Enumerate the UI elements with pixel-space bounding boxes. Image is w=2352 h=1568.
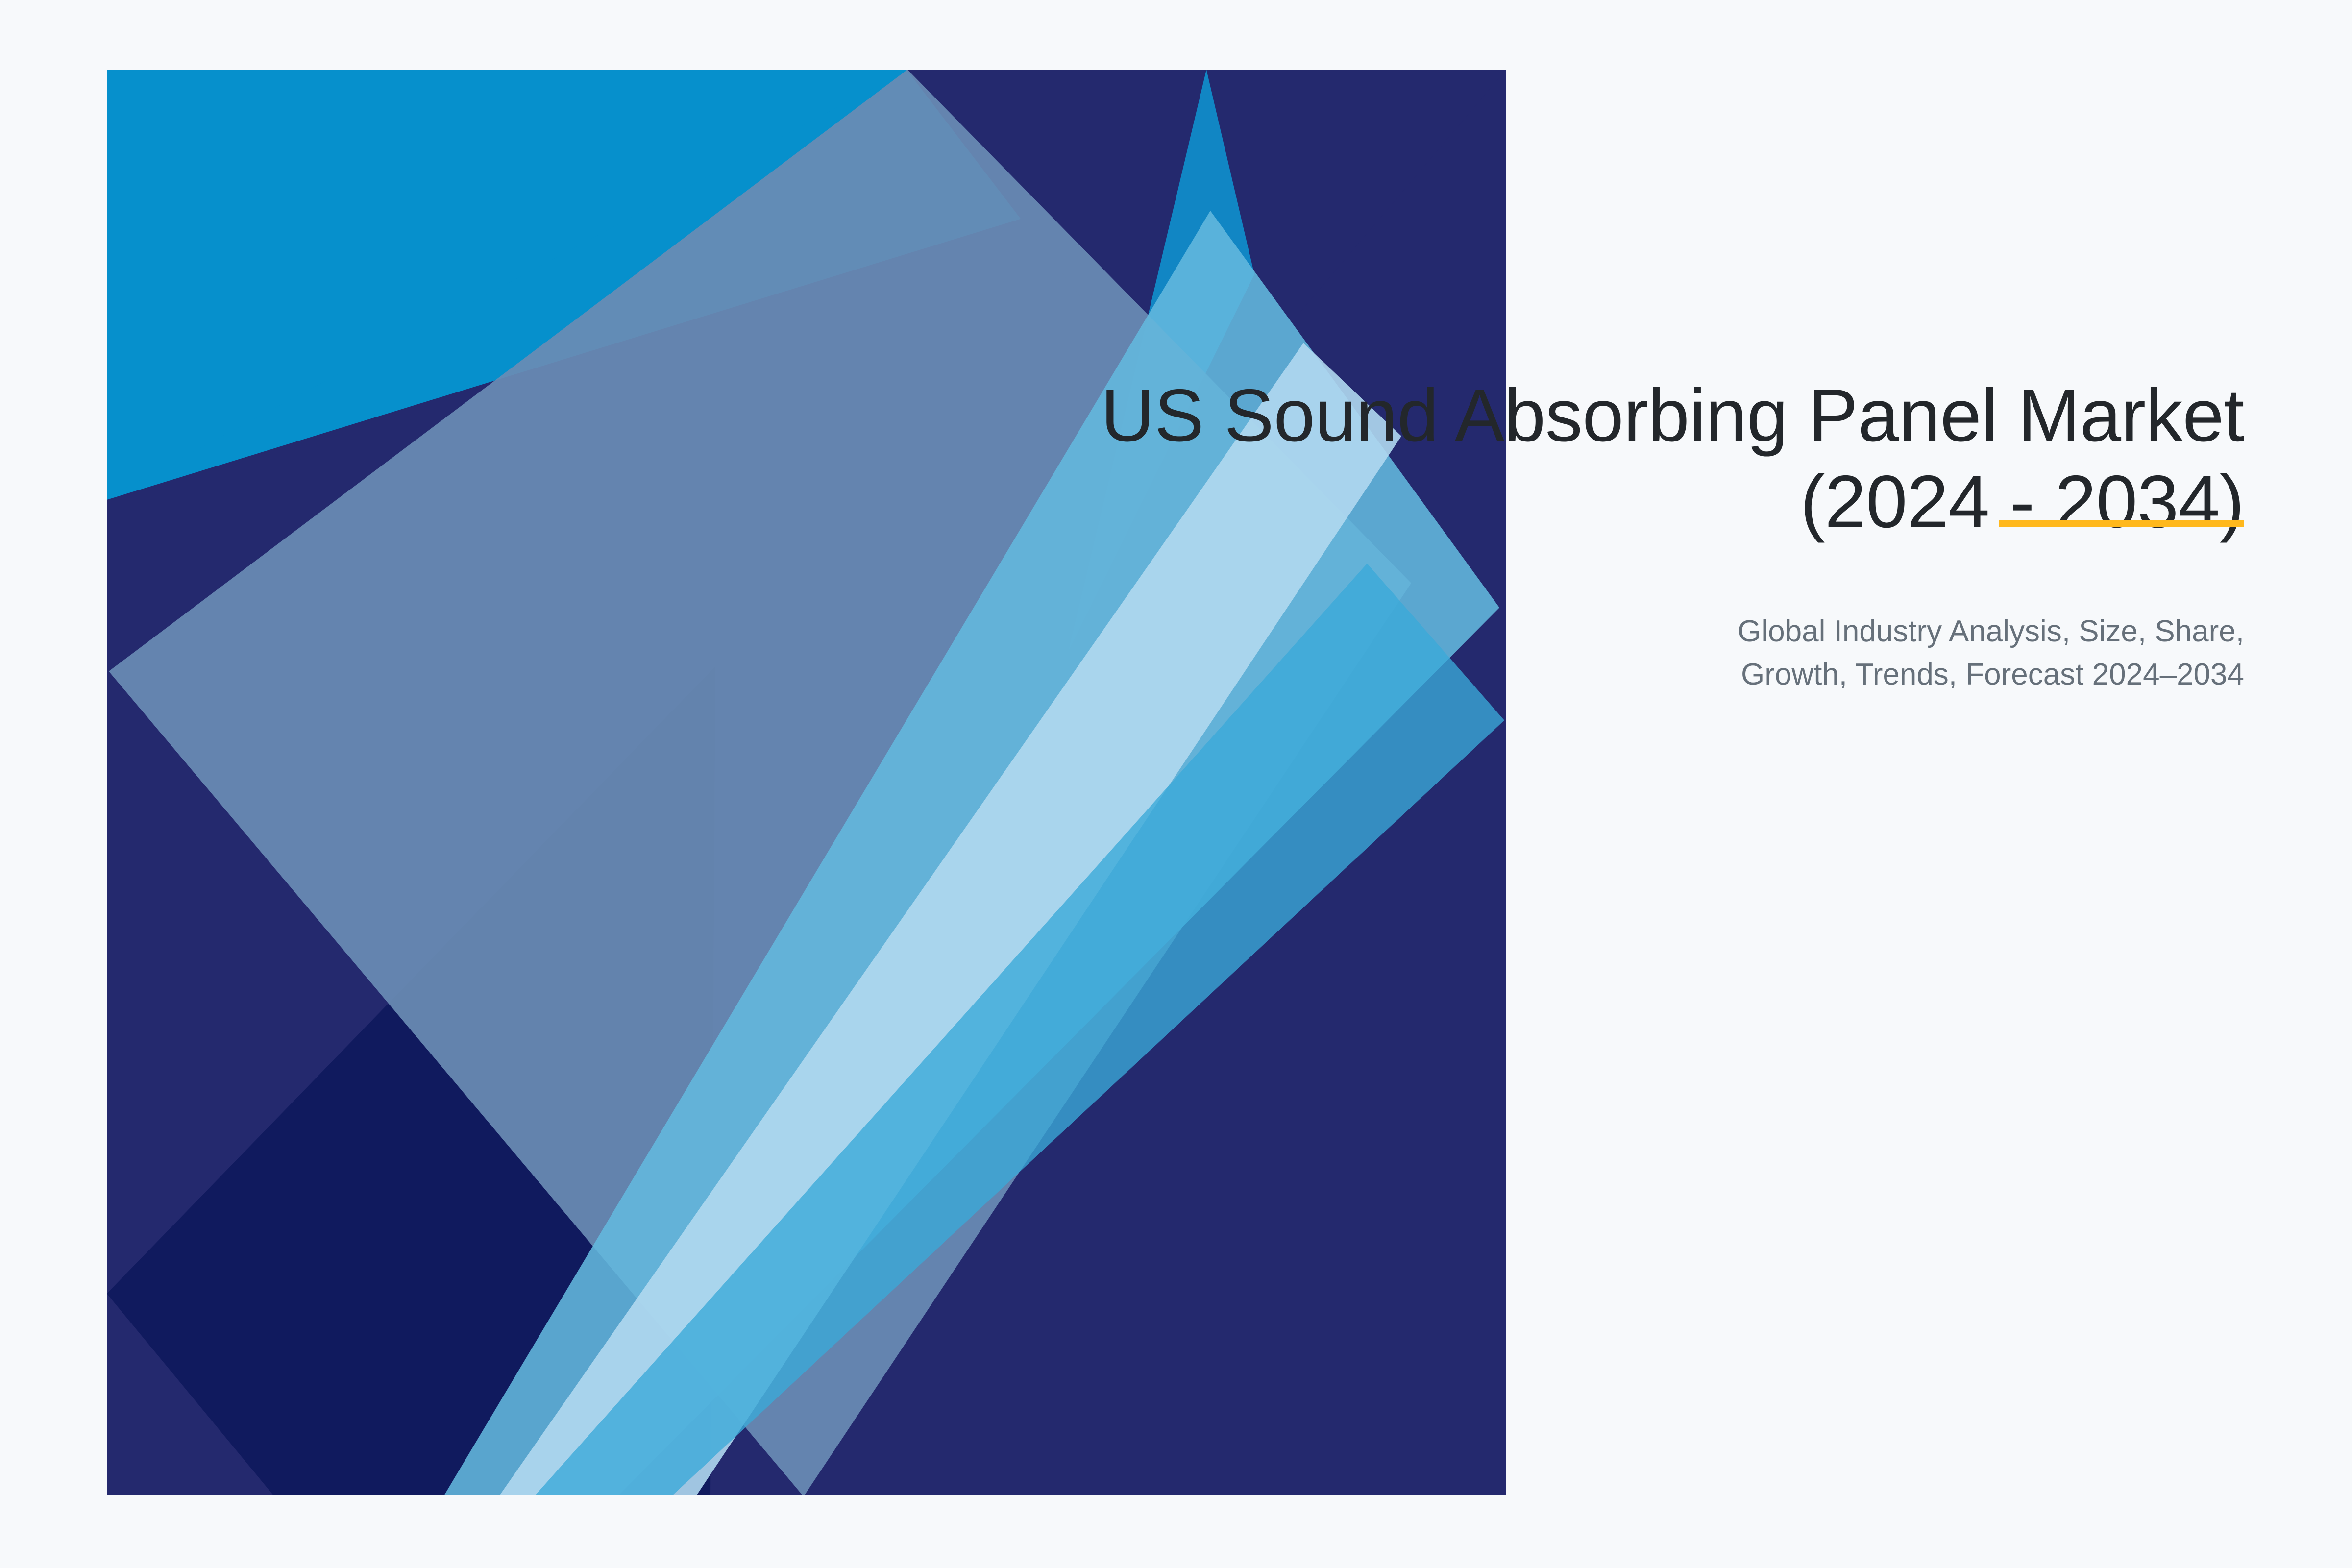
report-cover-page: US Sound Absorbing Panel Market (2024 - … — [0, 0, 2352, 1568]
shape-cyan-base — [107, 70, 1508, 1496]
page-title: US Sound Absorbing Panel Market (2024 - … — [970, 372, 2244, 545]
page-title-line-2: (2024 - 2034) — [970, 459, 2244, 545]
page-subtitle-line-1: Global Industry Analysis, Size, Share, — [970, 610, 2244, 653]
title-accent-rule — [1999, 520, 2244, 527]
shape-navy-field — [107, 70, 1506, 1496]
page-subtitle-line-2: Growth, Trends, Forecast 2024–2034 — [970, 653, 2244, 696]
shape-slate-quad — [109, 70, 1411, 1496]
shape-cyan-upper-left — [107, 70, 907, 498]
page-subtitle: Global Industry Analysis, Size, Share, G… — [970, 610, 2244, 696]
page-title-line-1: US Sound Absorbing Panel Market — [970, 372, 2244, 459]
shape-mid-blue-band — [534, 563, 1504, 1496]
cover-text-block: US Sound Absorbing Panel Market (2024 - … — [970, 372, 2244, 696]
abstract-geometric-artwork — [0, 0, 2352, 1568]
shape-deep-navy-wedge — [107, 666, 715, 1496]
